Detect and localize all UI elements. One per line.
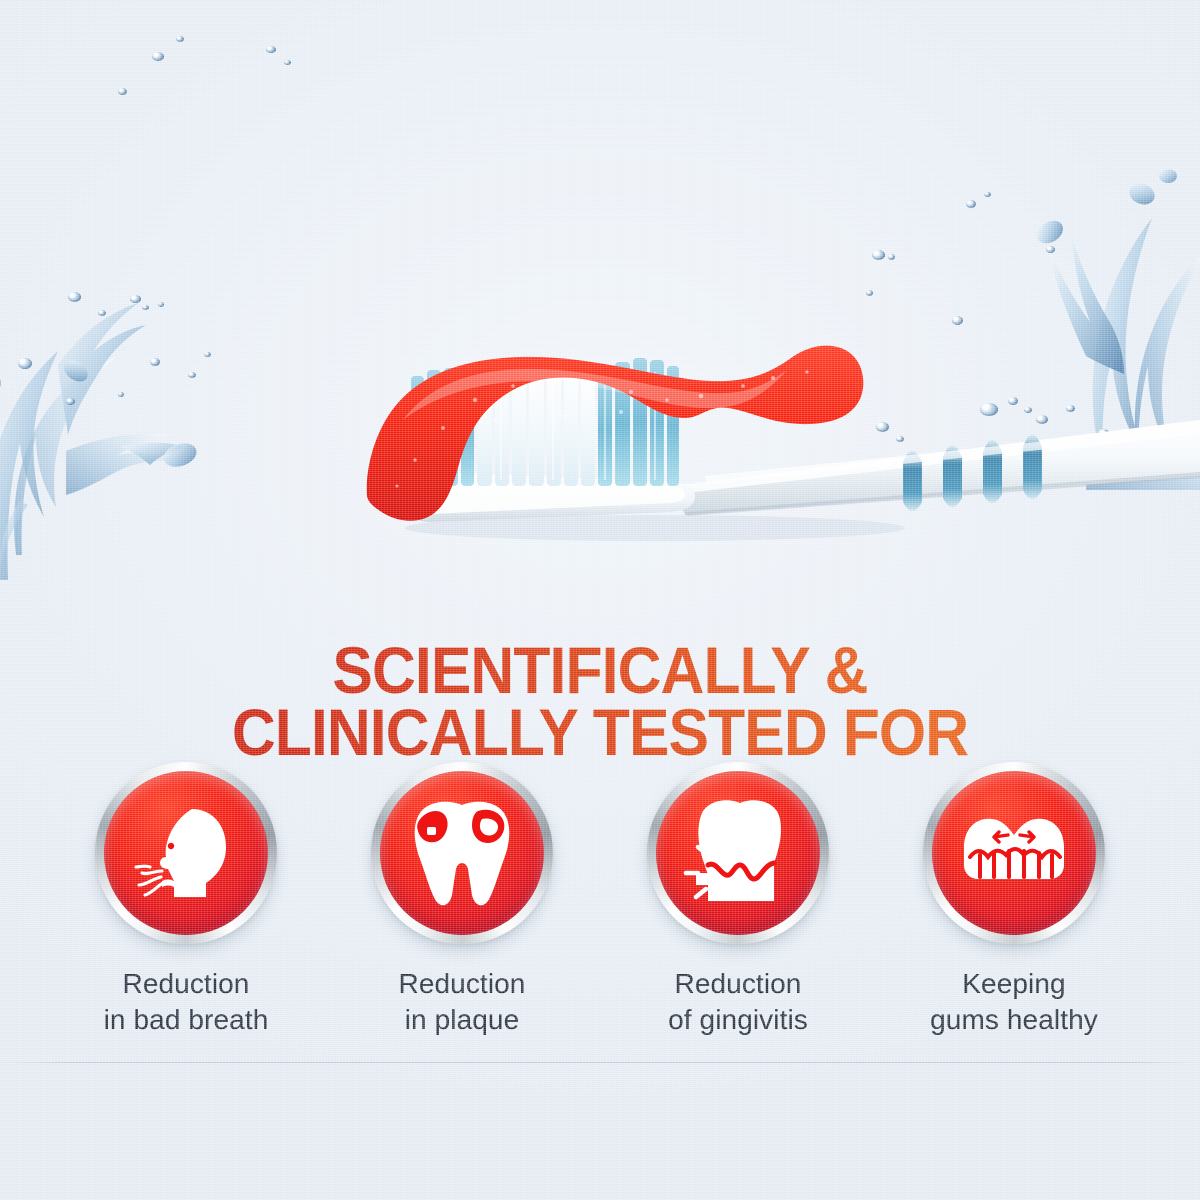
droplet (118, 88, 127, 95)
benefit-caption: Reduction of gingivitis (668, 966, 808, 1038)
benefit-caption: Reduction in plaque (399, 966, 526, 1038)
benefit-caption: Reduction in bad breath (104, 966, 269, 1038)
water-splash-left-svg (0, 255, 300, 585)
promo-banner: SCIENTIFICALLY & CLINICALLY TESTED FOR (0, 0, 1200, 1200)
benefit-item-plaque[interactable]: Reduction in plaque (367, 762, 557, 1038)
benefit-item-healthy-gums[interactable]: Keeping gums healthy (919, 762, 1109, 1038)
droplet (188, 372, 196, 378)
tooth-plaque-icon (408, 797, 516, 909)
droplet (984, 192, 991, 197)
droplet (158, 302, 164, 307)
droplet (142, 305, 149, 310)
benefit-item-bad-breath[interactable]: Reduction in bad breath (91, 762, 281, 1038)
droplet (872, 250, 885, 260)
benefits-row: Reduction in bad breath Reduction in pla… (0, 762, 1200, 1038)
section-divider (0, 1062, 1200, 1063)
benefit-item-gingivitis[interactable]: Reduction of gingivitis (643, 762, 833, 1038)
droplet (18, 358, 32, 369)
benefit-badge[interactable] (371, 762, 553, 944)
benefit-caption: Keeping gums healthy (930, 966, 1098, 1038)
toothbrush (355, 300, 1200, 550)
droplet (284, 60, 291, 65)
droplet (866, 290, 873, 296)
healthy-gums-icon (954, 807, 1074, 899)
benefit-badge[interactable] (95, 762, 277, 944)
droplet (204, 352, 211, 357)
droplet (152, 52, 164, 61)
droplet (66, 398, 75, 405)
tooth-gingivitis-icon (682, 797, 794, 909)
droplet (176, 36, 184, 42)
benefit-badge[interactable] (923, 762, 1105, 944)
droplet (266, 46, 276, 53)
head-bad-breath-icon (130, 797, 242, 909)
droplet (1046, 246, 1055, 253)
toothbrush-svg (355, 300, 1200, 550)
page-title: SCIENTIFICALLY & CLINICALLY TESTED FOR (48, 639, 1152, 763)
droplet (888, 254, 895, 260)
droplet (130, 295, 141, 303)
droplet (966, 200, 976, 208)
droplet (150, 358, 160, 366)
droplet (98, 310, 106, 316)
droplet (118, 392, 124, 397)
water-splash-left (0, 255, 300, 585)
benefit-badge[interactable] (647, 762, 829, 944)
droplet (68, 292, 81, 302)
